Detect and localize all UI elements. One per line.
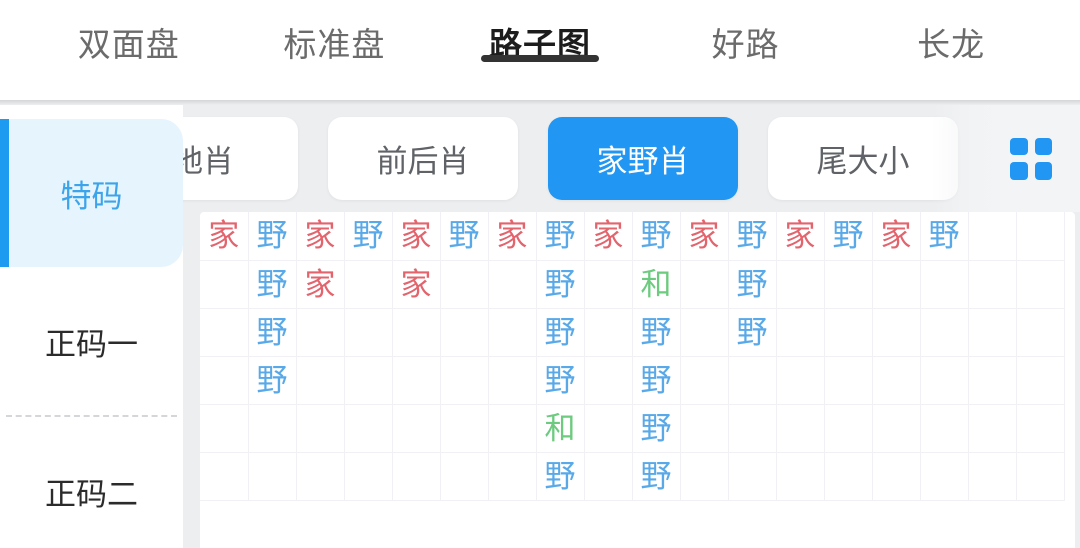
road-map-cell-empty: [1016, 356, 1064, 404]
tab-shuangmianpan[interactable]: 双面盘: [26, 0, 232, 66]
road-map-cell-filled: 野: [728, 212, 776, 260]
road-map-cell-empty: [392, 308, 440, 356]
road-map-cell-empty: [1016, 212, 1064, 260]
road-map-cell-empty: [1016, 404, 1064, 452]
road-map-cell-empty: [776, 308, 824, 356]
filter-chip-label: 地肖: [183, 136, 234, 181]
grid-square-2: [1035, 138, 1053, 156]
road-map-cell-empty: [440, 260, 488, 308]
road-map-cell-filled: 家: [680, 212, 728, 260]
road-map-cell-filled: 野: [824, 212, 872, 260]
sidebar-item-zhengmayi[interactable]: 正码一: [0, 267, 183, 415]
filter-chip-scroller[interactable]: 地肖 前后肖 家野肖 尾大小: [183, 117, 958, 200]
road-map-cell-filled: 野: [248, 212, 296, 260]
road-map-cell-empty: [680, 356, 728, 404]
road-map-cell-filled: 家: [776, 212, 824, 260]
road-map-cell-empty: [680, 404, 728, 452]
road-map-row: 野野野野: [200, 308, 1064, 356]
road-map-cell-filled: 野: [248, 260, 296, 308]
filter-chip-jiayexiao[interactable]: 家野肖: [548, 117, 738, 200]
tab-changlong[interactable]: 长龙: [848, 0, 1054, 66]
road-map-table: 家野家野家野家野家野家野家野家野野家家野和野野野野野野野野和野野野: [200, 212, 1065, 501]
road-map-cell-label: 野: [737, 218, 768, 253]
road-map-cell-empty: [728, 404, 776, 452]
road-map-cell-empty: [200, 260, 248, 308]
road-map-cell-empty: [392, 404, 440, 452]
road-map-cell-empty: [296, 452, 344, 500]
road-map-cell-empty: [488, 260, 536, 308]
road-map-cell-filled: 野: [248, 308, 296, 356]
road-map-row: 和野: [200, 404, 1064, 452]
road-map-cell-empty: [440, 404, 488, 452]
road-map-cell-empty: [968, 308, 1016, 356]
road-map-cell-empty: [440, 308, 488, 356]
road-map-cell-label: 野: [545, 363, 576, 398]
road-map-cell-empty: [200, 452, 248, 500]
road-map-cell-filled: 野: [536, 356, 584, 404]
road-map-cell-empty: [968, 404, 1016, 452]
road-map-cell-empty: [344, 404, 392, 452]
road-map-cell-filled: 野: [536, 452, 584, 500]
filter-chip-qianhouxiao[interactable]: 前后肖: [328, 117, 518, 200]
road-map-cell-label: 野: [257, 363, 288, 398]
road-map-cell-filled: 野: [248, 356, 296, 404]
road-map-cell-empty: [680, 308, 728, 356]
road-map-row: 家野家野家野家野家野家野家野家野: [200, 212, 1064, 260]
road-map-cell-empty: [872, 260, 920, 308]
road-map-cell-filled: 野: [632, 452, 680, 500]
road-map-cell-empty: [920, 260, 968, 308]
road-map-row: 野野: [200, 452, 1064, 500]
chip-row-fade-overlay: [932, 105, 1080, 212]
road-map-cell-empty: [488, 308, 536, 356]
road-map-cell-empty: [584, 356, 632, 404]
road-map-cell-filled: 野: [632, 404, 680, 452]
road-map-cell-label: 野: [545, 315, 576, 350]
road-map-cell-label: 家: [497, 218, 528, 253]
road-map-cell-label: 野: [257, 267, 288, 302]
road-map-cell-label: 野: [545, 218, 576, 253]
road-map-cell-filled: 野: [632, 212, 680, 260]
road-map-cell-label: 和: [545, 411, 576, 446]
road-map-cell-empty: [824, 308, 872, 356]
grid-square-1: [1010, 138, 1028, 156]
tab-label: 长龙: [917, 26, 985, 63]
road-map-cell-label: 和: [641, 267, 672, 302]
road-map-body: 家野家野家野家野家野家野家野家野野家家野和野野野野野野野野和野野野: [200, 212, 1064, 500]
road-map-cell-empty: [968, 212, 1016, 260]
road-map-cell-filled: 野: [632, 356, 680, 404]
road-map-cell-filled: 家: [872, 212, 920, 260]
road-map-cell-empty: [440, 452, 488, 500]
road-map-cell-empty: [248, 404, 296, 452]
road-map-cell-label: 野: [737, 315, 768, 350]
tab-label: 双面盘: [78, 26, 180, 63]
road-map-cell-empty: [728, 452, 776, 500]
road-map-cell-empty: [776, 260, 824, 308]
road-map-cell-label: 野: [641, 218, 672, 253]
road-panel: 地肖 前后肖 家野肖 尾大小: [183, 105, 1080, 548]
sidebar-item-zhengmaer[interactable]: 正码二: [0, 417, 183, 548]
road-map-cell-empty: [344, 452, 392, 500]
road-map-cell-empty: [344, 308, 392, 356]
road-map-cell-label: 野: [449, 218, 480, 253]
road-map-cell-label: 野: [737, 267, 768, 302]
road-map-cell-empty: [968, 452, 1016, 500]
road-map-cell-empty: [776, 404, 824, 452]
road-map-cell-label: 家: [689, 218, 720, 253]
tab-luzitu[interactable]: 路子图: [437, 0, 643, 66]
road-map-cell-empty: [488, 452, 536, 500]
road-map-cell-empty: [920, 356, 968, 404]
tab-biaozhunpan[interactable]: 标准盘: [232, 0, 438, 66]
road-map-cell-empty: [824, 404, 872, 452]
road-map-cell-empty: [872, 308, 920, 356]
road-map-cell-label: 家: [208, 218, 239, 253]
road-map-cell-empty: [344, 260, 392, 308]
road-map-cell-empty: [296, 404, 344, 452]
road-map-cell-filled: 和: [536, 404, 584, 452]
road-map-cell-empty: [296, 356, 344, 404]
road-map-cell-filled: 家: [296, 260, 344, 308]
road-map-cell-empty: [920, 452, 968, 500]
road-map-cell-empty: [584, 452, 632, 500]
road-map-cell-empty: [872, 356, 920, 404]
filter-chip-dixiao[interactable]: 地肖: [183, 117, 298, 200]
road-map-cell-empty: [584, 308, 632, 356]
grid-square-4: [1035, 162, 1053, 180]
road-map-cell-empty: [920, 308, 968, 356]
road-map-cell-label: 野: [641, 315, 672, 350]
sidebar-item-teme[interactable]: 特码: [0, 119, 183, 267]
road-map-cell-filled: 野: [920, 212, 968, 260]
road-map-cell-label: 野: [257, 218, 288, 253]
road-map-cell-empty: [824, 260, 872, 308]
tab-label: 标准盘: [283, 26, 385, 63]
road-map-cell-label: 家: [593, 218, 624, 253]
road-map-cell-empty: [440, 356, 488, 404]
road-map-cell-label: 野: [641, 459, 672, 494]
category-sidebar: 特码 正码一 正码二: [0, 105, 183, 548]
road-map-cell-empty: [584, 404, 632, 452]
road-map-cell-empty: [1016, 452, 1064, 500]
road-map-cell-empty: [824, 452, 872, 500]
road-map-cell-empty: [728, 356, 776, 404]
road-map-cell-empty: [1016, 260, 1064, 308]
road-map-cell-filled: 家: [584, 212, 632, 260]
road-map-cell-label: 野: [545, 459, 576, 494]
road-map-cell-empty: [968, 260, 1016, 308]
road-map-cell-label: 野: [545, 267, 576, 302]
tab-haolu[interactable]: 好路: [643, 0, 849, 66]
sidebar-item-label: 正码二: [45, 469, 138, 514]
road-map-cell-label: 野: [929, 218, 960, 253]
road-map-cell-label: 野: [257, 315, 288, 350]
road-map-cell-filled: 野: [536, 260, 584, 308]
road-map-cell-empty: [872, 452, 920, 500]
road-map-cell-label: 家: [305, 218, 336, 253]
road-map-cell-empty: [584, 260, 632, 308]
road-map-cell-label: 家: [401, 218, 432, 253]
sidebar-item-label: 正码一: [45, 319, 138, 364]
road-map-cell-empty: [392, 356, 440, 404]
road-map-cell-empty: [680, 452, 728, 500]
road-map-grid[interactable]: 家野家野家野家野家野家野家野家野野家家野和野野野野野野野野和野野野: [200, 212, 1075, 548]
road-map-cell-empty: [776, 356, 824, 404]
top-tab-bar: 双面盘 标准盘 路子图 好路 长龙: [0, 0, 1080, 100]
road-map-cell-empty: [200, 308, 248, 356]
road-map-cell-filled: 野: [728, 308, 776, 356]
road-map-cell-filled: 野: [536, 212, 584, 260]
road-map-cell-filled: 家: [392, 260, 440, 308]
road-map-cell-empty: [968, 356, 1016, 404]
road-map-row: 野家家野和野: [200, 260, 1064, 308]
road-map-cell-empty: [248, 452, 296, 500]
road-map-cell-empty: [200, 356, 248, 404]
road-map-cell-label: 野: [641, 363, 672, 398]
road-map-cell-empty: [200, 404, 248, 452]
filter-chip-label: 前后肖: [377, 136, 470, 181]
grid-square-3: [1010, 162, 1028, 180]
filter-chip-row: 地肖 前后肖 家野肖 尾大小: [183, 105, 1080, 212]
road-map-cell-label: 野: [353, 218, 384, 253]
road-map-cell-label: 野: [641, 411, 672, 446]
road-map-cell-empty: [488, 356, 536, 404]
road-map-cell-label: 家: [305, 267, 336, 302]
road-map-cell-filled: 野: [536, 308, 584, 356]
road-map-cell-label: 野: [833, 218, 864, 253]
tab-active-underline: [481, 55, 599, 62]
road-map-cell-label: 家: [785, 218, 816, 253]
road-map-row: 野野野: [200, 356, 1064, 404]
road-map-cell-empty: [680, 260, 728, 308]
filter-chip-label: 尾大小: [817, 136, 910, 181]
road-map-cell-empty: [1016, 308, 1064, 356]
road-map-cell-filled: 野: [632, 308, 680, 356]
road-map-cell-empty: [392, 452, 440, 500]
road-map-cell-label: 家: [401, 267, 432, 302]
sidebar-item-label: 特码: [61, 171, 123, 216]
road-map-cell-empty: [776, 452, 824, 500]
road-map-cell-filled: 和: [632, 260, 680, 308]
road-map-cell-filled: 野: [344, 212, 392, 260]
road-map-cell-empty: [488, 404, 536, 452]
road-map-cell-empty: [344, 356, 392, 404]
road-map-cell-empty: [872, 404, 920, 452]
road-map-cell-empty: [296, 308, 344, 356]
road-map-cell-filled: 家: [488, 212, 536, 260]
road-map-cell-filled: 家: [392, 212, 440, 260]
road-map-cell-empty: [920, 404, 968, 452]
road-map-cell-empty: [824, 356, 872, 404]
road-map-cell-filled: 家: [200, 212, 248, 260]
filter-chip-label: 家野肖: [597, 136, 690, 181]
tab-label: 好路: [712, 26, 780, 63]
road-map-cell-filled: 家: [296, 212, 344, 260]
filter-chip-weidaxiao[interactable]: 尾大小: [768, 117, 958, 200]
road-map-cell-label: 家: [881, 218, 912, 253]
road-map-cell-filled: 野: [440, 212, 488, 260]
grid-squares-icon[interactable]: [1010, 138, 1052, 180]
content-body: 特码 正码一 正码二 地肖 前后肖 家野肖 尾大小: [0, 105, 1080, 548]
road-map-cell-filled: 野: [728, 260, 776, 308]
